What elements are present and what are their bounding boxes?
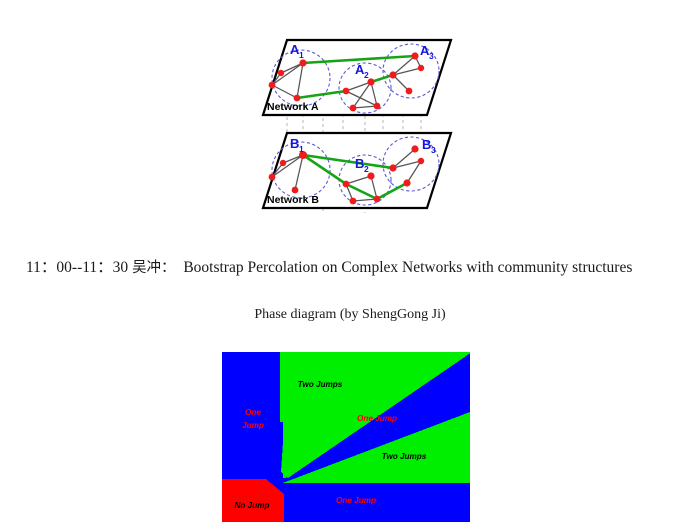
- session-title-word-4: Complex: [341, 259, 398, 276]
- label-one-jump-middle: One Jump: [357, 414, 397, 423]
- label-two-jumps-upper: Two Jumps: [298, 380, 343, 389]
- label-one-jump-left-line2: Jump: [242, 421, 264, 430]
- session-title-line2: community structures: [498, 259, 633, 276]
- community-label-a2-subscript: 2: [364, 70, 369, 80]
- community-label-b1-text: B: [290, 136, 299, 151]
- network-a-label: Network A: [267, 101, 319, 113]
- phase-diagram-figure: One Jump Two Jumps One Jump Two Jumps On…: [222, 352, 470, 522]
- label-no-jump: No Jump: [234, 501, 269, 510]
- community-label-b3-text: B: [422, 137, 431, 152]
- community-label-a1-subscript: 1: [299, 50, 304, 60]
- session-entry: 11：00--11：30 吴冲： Bootstrap Percolation o…: [26, 256, 676, 280]
- network-layer-b: B 1 B 2 B 3 Network B: [263, 133, 451, 208]
- network-figure: .plane { fill:#ffffff; stroke:#000000; s…: [225, 18, 470, 213]
- community-label-b3-subscript: 3: [431, 145, 436, 155]
- community-label-a3-subscript: 3: [429, 51, 434, 61]
- network-b-label: Network B: [267, 194, 319, 206]
- session-title-word-2: Percolation: [247, 259, 318, 276]
- phase-diagram-caption: Phase diagram (by ShengGong Ji): [0, 307, 700, 323]
- session-time: 11：00--11：30: [26, 259, 128, 276]
- session-speaker: 吴冲：: [132, 260, 176, 276]
- community-label-b2-subscript: 2: [364, 164, 369, 174]
- session-title-word-6: with: [466, 259, 494, 276]
- community-label-b2-text: B: [355, 156, 364, 171]
- session-title-word-5: Networks: [402, 259, 462, 276]
- label-one-jump-bottom: One Jump: [336, 496, 376, 505]
- session-title-word-1: Bootstrap: [183, 259, 243, 276]
- network-layer-a: A 1 A 2 A 3 Network A: [263, 40, 451, 115]
- label-one-jump-left-line1: One: [245, 408, 261, 417]
- session-title-word-3: on: [322, 259, 338, 276]
- label-two-jumps-lower: Two Jumps: [382, 452, 427, 461]
- community-label-b1-subscript: 1: [299, 144, 304, 154]
